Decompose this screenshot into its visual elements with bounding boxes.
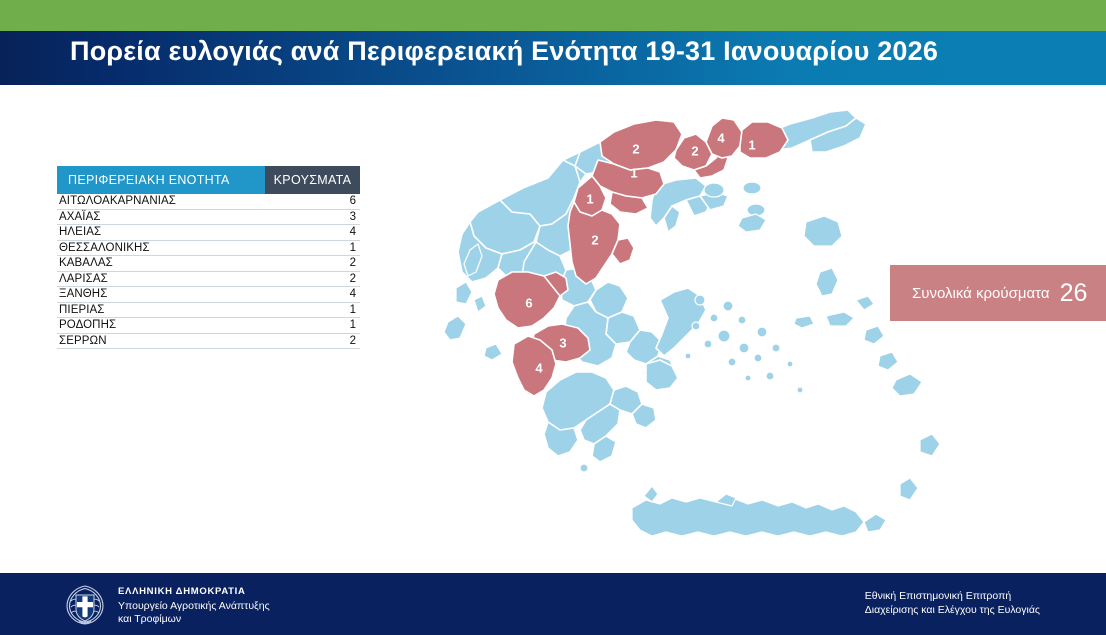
page-title: Πορεία ευλογιάς ανά Περιφερειακή Ενότητα… (70, 36, 938, 67)
ministry-line-1: ΕΛΛΗΝΙΚΗ ΔΗΜΟΚΡΑΤΙΑ (118, 586, 270, 597)
greek-coat-of-arms-icon (63, 583, 107, 627)
map-base-regions (444, 110, 940, 536)
map-label-θεσσαλονικης: 1 (630, 165, 637, 180)
region-rodopi (740, 122, 788, 158)
cell-region: ΑΙΤΩΛΟΑΚΑΡΝΑΝΙΑΣ (57, 195, 265, 207)
table-row: ΑΙΤΩΛΟΑΚΑΡΝΑΝΙΑΣ6 (57, 194, 360, 210)
table-row: ΣΕΡΡΩΝ2 (57, 334, 360, 350)
map-label-ηλειας: 4 (535, 360, 543, 375)
cell-region: ΑΧΑΪΑΣ (57, 211, 265, 223)
table-body: ΑΙΤΩΛΟΑΚΑΡΝΑΝΙΑΣ6ΑΧΑΪΑΣ3ΗΛΕΙΑΣ4ΘΕΣΣΑΛΟΝΙ… (57, 194, 360, 349)
cell-region: ΣΕΡΡΩΝ (57, 335, 265, 347)
cell-cases: 1 (265, 304, 360, 316)
map-label-καβαλας: 2 (691, 143, 698, 158)
greece-regional-units-map: 2241112634 (420, 95, 1106, 575)
cell-region: ΛΑΡΙΣΑΣ (57, 273, 265, 285)
map-label-σερρων: 2 (632, 141, 639, 156)
ministry-block: ΕΛΛΗΝΙΚΗ ΔΗΜΟΚΡΑΤΙΑ Υπουργείο Αγροτικής … (118, 586, 270, 625)
cell-region: ΞΑΝΘΗΣ (57, 288, 265, 300)
cell-region: ΚΑΒΑΛΑΣ (57, 257, 265, 269)
table-row: ΗΛΕΙΑΣ4 (57, 225, 360, 241)
table-row: ΠΙΕΡΙΑΣ1 (57, 303, 360, 319)
column-header-region: ΠΕΡΙΦΕΡΕΙΑΚΗ ΕΝΟΤΗΤΑ (57, 166, 265, 194)
table-row: ΞΑΝΘΗΣ4 (57, 287, 360, 303)
ministry-line-3: και Τροφίμων (118, 613, 270, 625)
column-header-cases: ΚΡΟΥΣΜΑΤΑ (265, 166, 360, 194)
map-label-λαρισας: 2 (591, 232, 598, 247)
ministry-line-2: Υπουργείο Αγροτικής Ανάπτυξης (118, 600, 270, 612)
table-row: ΡΟΔΟΠΗΣ1 (57, 318, 360, 334)
map-label-ξανθης: 4 (717, 130, 725, 145)
cell-region: ΡΟΔΟΠΗΣ (57, 319, 265, 331)
table-header-row: ΠΕΡΙΦΕΡΕΙΑΚΗ ΕΝΟΤΗΤΑ ΚΡΟΥΣΜΑΤΑ (57, 166, 360, 194)
cell-region: ΗΛΕΙΑΣ (57, 226, 265, 238)
cell-cases: 1 (265, 319, 360, 331)
table-row: ΘΕΣΣΑΛΟΝΙΚΗΣ1 (57, 241, 360, 257)
committee-block: Εθνική Επιστημονική Επιτροπή Διαχείρισης… (865, 590, 1040, 616)
cell-cases: 2 (265, 273, 360, 285)
map-label-αχαϊας: 3 (559, 335, 566, 350)
table-row: ΚΑΒΑΛΑΣ2 (57, 256, 360, 272)
table-row: ΑΧΑΪΑΣ3 (57, 210, 360, 226)
cell-region: ΘΕΣΣΑΛΟΝΙΚΗΣ (57, 242, 265, 254)
table-row: ΛΑΡΙΣΑΣ2 (57, 272, 360, 288)
cell-cases: 2 (265, 335, 360, 347)
committee-line-2: Διαχείρισης και Ελέγχου της Ευλογιάς (865, 604, 1040, 616)
committee-line-1: Εθνική Επιστημονική Επιτροπή (865, 590, 1040, 602)
region-serres (600, 120, 682, 170)
map-label-πιεριας: 1 (586, 191, 593, 206)
cell-cases: 6 (265, 195, 360, 207)
cell-region: ΠΙΕΡΙΑΣ (57, 304, 265, 316)
map-label-αιτωλοακαρνανιας: 6 (525, 295, 532, 310)
map-label-ροδοπης: 1 (748, 137, 755, 152)
top-green-accent-bar (0, 0, 1106, 31)
cell-cases: 1 (265, 242, 360, 254)
cases-table: ΠΕΡΙΦΕΡΕΙΑΚΗ ΕΝΟΤΗΤΑ ΚΡΟΥΣΜΑΤΑ ΑΙΤΩΛΟΑΚΑ… (57, 166, 360, 349)
cell-cases: 4 (265, 288, 360, 300)
cell-cases: 4 (265, 226, 360, 238)
cell-cases: 2 (265, 257, 360, 269)
cell-cases: 3 (265, 211, 360, 223)
